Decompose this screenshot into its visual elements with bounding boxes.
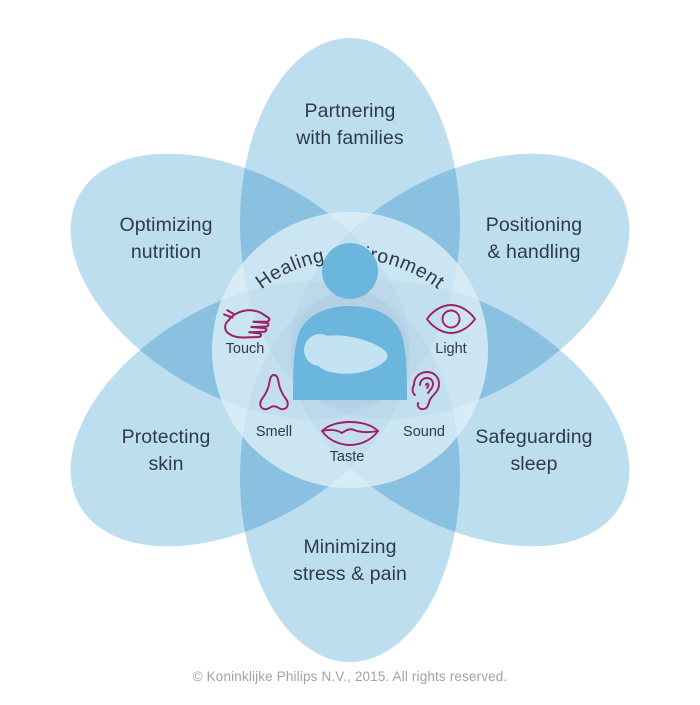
petal-label-line2: stress & pain (293, 563, 407, 585)
copyright-notice: © Koninklijke Philips N.V., 2015. All ri… (0, 669, 700, 684)
petal-label-line2: with families (295, 127, 404, 149)
sense-label-taste: Taste (330, 449, 365, 465)
petal-label-line1: Protecting (122, 426, 211, 448)
sense-label-touch: Touch (226, 341, 265, 357)
sense-label-light: Light (435, 341, 466, 357)
petal-label-line2: sleep (510, 453, 557, 475)
petal-label-line1: Safeguarding (475, 426, 592, 448)
petal-label-line2: skin (148, 453, 183, 475)
parent-head-shape (322, 243, 378, 299)
diagram-canvas: Healing environment Tou (0, 0, 700, 700)
sense-label-smell: Smell (256, 424, 292, 440)
petal-label-line2: nutrition (131, 241, 201, 263)
petal-label-line1: Minimizing (303, 536, 396, 558)
flower-diagram: Healing environment Tou (0, 0, 700, 700)
petal-label-line1: Positioning (486, 214, 583, 236)
petal-label-line1: Optimizing (119, 214, 212, 236)
sense-label-sound: Sound (403, 424, 445, 440)
petal-label-line1: Partnering (305, 100, 396, 122)
petal-label-line2: & handling (487, 241, 580, 263)
